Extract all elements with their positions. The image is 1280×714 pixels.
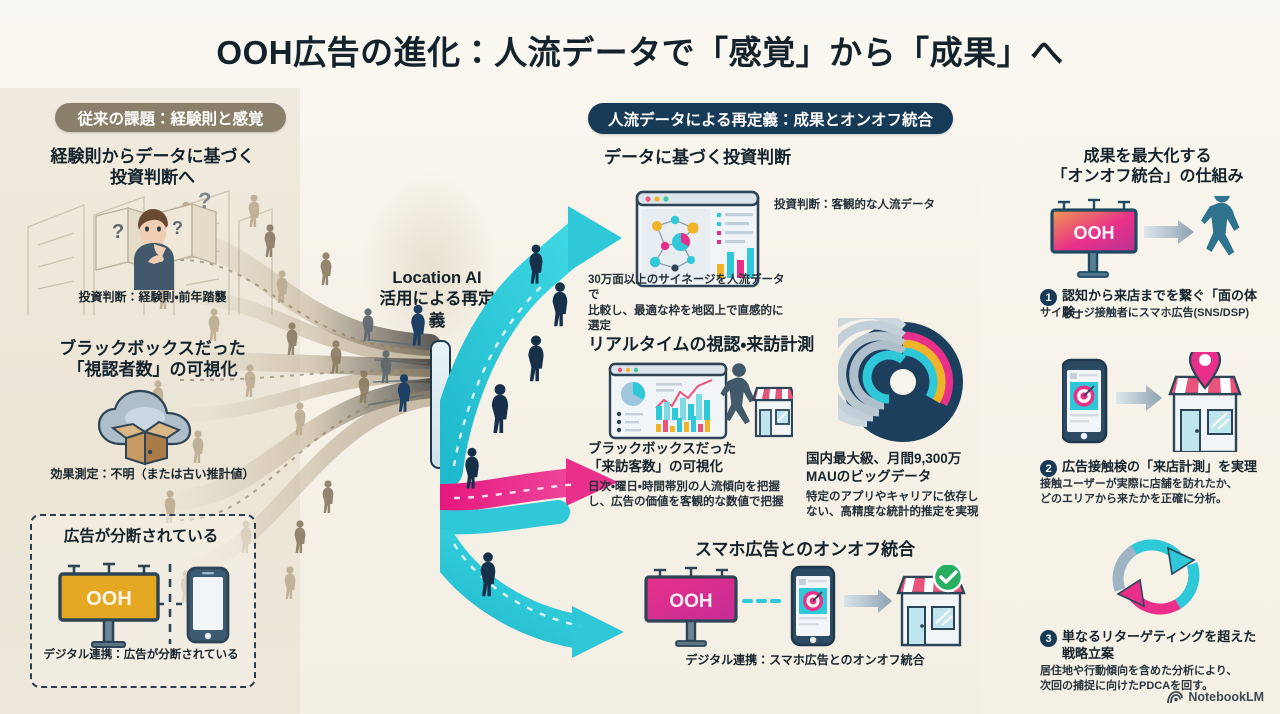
left-section-pill: 従来の課題：経験則と感覚	[55, 103, 286, 132]
center-block-3-heading: スマホ広告とのオンオフ統合	[640, 539, 970, 560]
center-block-1-note: 投資判断：客観的な人流データ	[774, 198, 949, 213]
svg-text:OOH: OOH	[86, 588, 132, 610]
left-block-2-heading: ブラックボックスだった「視認者数」の可視化	[40, 338, 265, 381]
infographic-canvas: OOH広告の進化：人流データで「感覚」から「成果」へ 従来の課題：経験則と感覚 …	[0, 0, 1280, 714]
right-item-3-heading: 単なるリターゲティングを超えた戦略立案	[1062, 629, 1274, 662]
left-block-1-caption: 投資判断：経験則・前年踏襲	[40, 290, 265, 306]
fragmented-ads-caption: デジタル連携：広告が分断されている	[28, 648, 254, 663]
billboard-to-pedestrian-icon: OOH	[1046, 196, 1251, 280]
smartphone-ad-icon	[792, 567, 834, 645]
notebooklm-logo-icon	[1167, 690, 1183, 704]
left-block-1-heading: 経験則からデータに基づく投資判断へ	[40, 146, 265, 189]
right-item-3-sub: 居住地や行動傾向を含めた分析により、次回の捕捉に向けたPDCAを回す。	[1040, 664, 1275, 693]
fragmented-ads-heading: 広告が分断されている	[30, 527, 252, 546]
billboard-icon: OOH	[646, 568, 736, 646]
right-item-2-sub: 接触ユーザーが実際に店舗を訪れたか、どのエリアから来たかを正確に分析。	[1040, 477, 1275, 506]
svg-text:OOH: OOH	[669, 591, 712, 612]
center-block-1-heading: データに基づく投資判断	[570, 147, 825, 168]
store-check-icon	[898, 565, 964, 645]
svg-text:OOH: OOH	[1073, 223, 1114, 243]
center-section-pill: 人流データによる再定義：成果とオンオフ統合	[588, 103, 953, 134]
right-section-heading: 成果を最大化する「オンオフ統合」の仕組み	[1040, 147, 1255, 187]
billboard-icon: OOH	[60, 564, 158, 647]
svg-text:?: ?	[112, 221, 124, 243]
left-block-2-caption: 効果測定：不明（または古い推計値）	[30, 467, 275, 483]
footer-brand: NotebookLM	[1167, 690, 1264, 704]
confused-person-with-maps-icon: ? ? ?	[88, 190, 223, 290]
svg-text:?: ?	[198, 190, 211, 213]
cloud-open-box-icon	[93, 386, 213, 472]
center-block-2-item-2-caption: 国内最大級、月間9,300万MAUのビッグデータ	[806, 450, 981, 485]
center-block-2-item-1-caption: ブラックボックスだった「来訪客数」の可視化	[588, 440, 788, 475]
footer-brand-label: NotebookLM	[1188, 690, 1264, 704]
smartphone-icon	[188, 568, 228, 642]
pdca-cycle-icon	[1106, 534, 1206, 620]
center-block-1-caption: 30万面以上のサイネージを人流データで比較し、最適な枠を地図上で直感的に選定	[588, 273, 793, 335]
center-block-2-item-2-sub: 特定のアプリやキャリアに依存しない、高精度な統計的推定を実現	[806, 490, 986, 521]
center-block-2-item-1-sub: 日次・曜日・時間帯別の人流傾向を把握し、広告の価値を客観的な数値で把握	[588, 480, 793, 511]
billboard-and-phone-icon: OOH	[50, 558, 232, 650]
center-block-3-caption: デジタル連携：スマホ広告とのオンオフ統合	[640, 653, 970, 669]
concentric-donut-chart-icon	[838, 318, 968, 446]
onoff-integration-icon: OOH	[640, 565, 970, 651]
right-item-1-number: 1	[1040, 289, 1057, 306]
right-item-1-sub: サイネージ接触者にスマホ広告(SNS/DSP)	[1040, 306, 1275, 321]
center-block-2-heading: リアルタイムの視認・来訪計測	[588, 334, 818, 355]
svg-text:?: ?	[172, 218, 183, 238]
right-item-3-number: 3	[1040, 630, 1057, 647]
phone-to-store-pin-icon	[1062, 352, 1252, 452]
right-item-2-heading: 広告接触検の「来店計測」を実理	[1062, 459, 1274, 476]
analytics-store-visit-icon	[608, 362, 793, 440]
right-item-2-number: 2	[1040, 460, 1057, 477]
page-title: OOH広告の進化：人流データで「感覚」から「成果」へ	[0, 26, 1280, 74]
